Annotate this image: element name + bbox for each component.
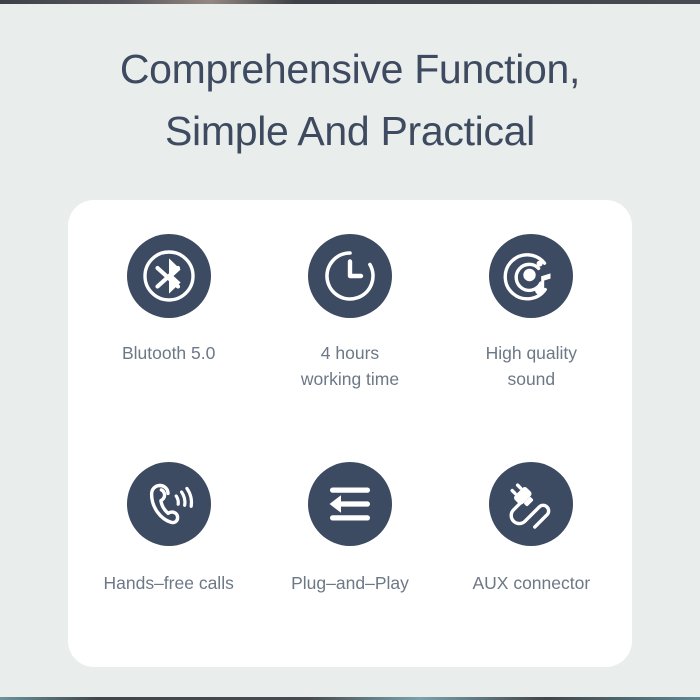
page-title: Comprehensive Function, Simple And Pract…	[0, 4, 700, 162]
feature-item-aux-connector[interactable]: AUX connector	[441, 436, 622, 644]
feature-label-plug-and-play: Plug–and–Play	[291, 570, 409, 596]
feature-label-hands-free: Hands–free calls	[103, 570, 233, 596]
feature-item-plug-and-play[interactable]: Plug–and–Play	[259, 436, 440, 644]
bluetooth-icon	[138, 245, 200, 307]
promo-page: Comprehensive Function, Simple And Pract…	[0, 4, 700, 697]
feature-item-bluetooth[interactable]: Blutooth 5.0	[78, 228, 259, 436]
plug-cable-icon-badge	[489, 462, 573, 546]
feature-item-hands-free[interactable]: Hands–free calls	[78, 436, 259, 644]
feature-item-working-time[interactable]: 4 hours working time	[259, 228, 440, 436]
phone-handset-waves-icon	[138, 473, 200, 535]
feature-label-sound: High quality sound	[486, 340, 577, 392]
left-arrow-bars-icon-badge	[308, 462, 392, 546]
feature-item-sound[interactable]: High quality sound	[441, 228, 622, 436]
plug-cable-icon	[500, 473, 562, 535]
feature-label-aux-connector: AUX connector	[472, 570, 590, 596]
bluetooth-icon-badge	[127, 234, 211, 318]
feature-grid: Blutooth 5.0 4 hours working time	[68, 200, 632, 667]
clock-icon	[319, 245, 381, 307]
page-title-line-2: Simple And Practical	[0, 100, 700, 162]
vinyl-music-note-icon	[500, 245, 562, 307]
feature-card: Blutooth 5.0 4 hours working time	[68, 200, 632, 667]
feature-label-working-time: 4 hours working time	[301, 340, 399, 392]
feature-label-bluetooth: Blutooth 5.0	[122, 340, 215, 366]
left-arrow-bars-icon	[319, 473, 381, 535]
vinyl-music-note-icon-badge	[489, 234, 573, 318]
page-title-line-1: Comprehensive Function,	[0, 38, 700, 100]
clock-icon-badge	[308, 234, 392, 318]
phone-handset-waves-icon-badge	[127, 462, 211, 546]
